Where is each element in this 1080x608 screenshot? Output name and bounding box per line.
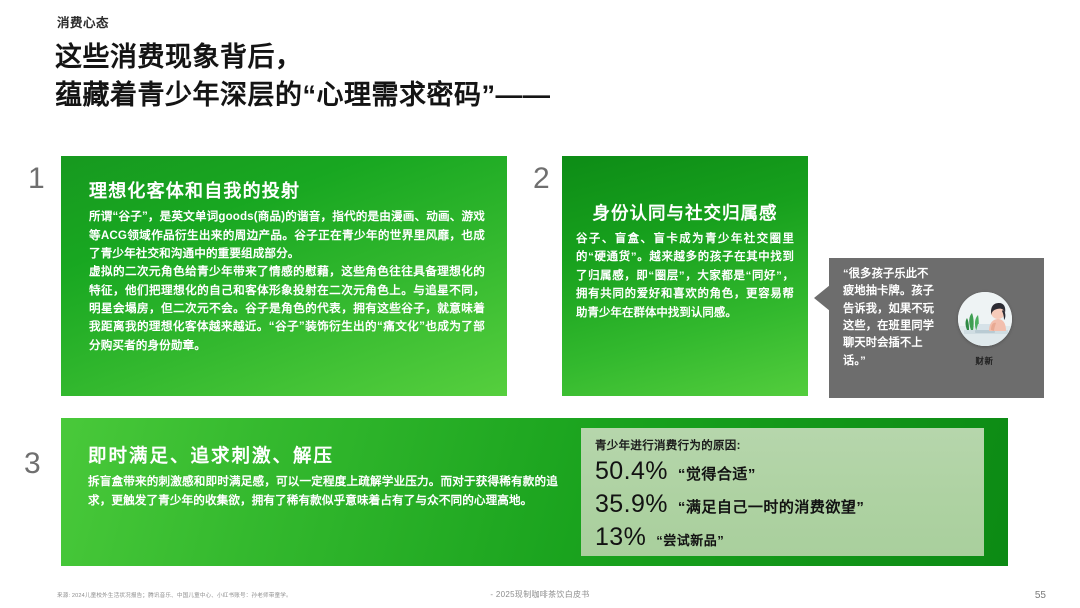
avatar-label: 财新 <box>975 355 993 367</box>
page-title: 这些消费现象背后， 蕴藏着青少年深层的“心理需求密码”—— <box>55 38 551 115</box>
card-2-body: 谷子、盲盒、盲卡成为青少年社交圈里的“硬通货”。越来越多的孩子在其中找到了归属感… <box>576 230 794 322</box>
statistic-value: 13% <box>595 521 646 554</box>
statistics-caption: 青少年进行消费行为的原因: <box>595 437 984 453</box>
card-number-marker-3: 3 <box>24 449 41 479</box>
statistic-value: 35.9% <box>595 488 668 521</box>
statistic-value: 50.4% <box>595 455 668 488</box>
card-number-marker-2: 2 <box>533 164 550 194</box>
statistic-label: “觉得合适” <box>678 465 756 485</box>
card-1-title: 理想化客体和自我的投射 <box>89 180 485 203</box>
card-3-body: 拆盲盒带来的刺激感和即时满足感，可以一定程度上疏解学业压力。而对于获得稀有款的追… <box>88 473 558 510</box>
headline-line-1: 这些消费现象背后， <box>55 42 303 72</box>
statistic-row: 13% “尝试新品” <box>595 521 984 554</box>
card-number-marker-1: 1 <box>28 164 45 194</box>
section-eyebrow: 消费心态 <box>57 12 109 31</box>
content-card-identity-belonging: 身份认同与社交归属感 谷子、盲盒、盲卡成为青少年社交圈里的“硬通货”。越来越多的… <box>562 156 808 396</box>
content-card-instant-gratification: 即时满足、追求刺激、解压 拆盲盒带来的刺激感和即时满足感，可以一定程度上疏解学业… <box>61 418 1008 566</box>
quote-text: “很多孩子乐此不疲地抽卡牌。孩子告诉我，如果不玩这些，在班里同学聊天时会插不上话… <box>843 266 935 398</box>
footer-document-title: - 2025现制咖啡茶饮白皮书 <box>0 589 1080 600</box>
headline-line-2: 蕴藏着青少年深层的“心理需求密码”—— <box>55 80 551 110</box>
card-3-title: 即时满足、追求刺激、解压 <box>88 444 558 468</box>
statistic-row: 50.4% “觉得合适” <box>595 455 984 488</box>
footer-page-number: 55 <box>1035 590 1046 601</box>
content-card-ideal-object: 理想化客体和自我的投射 所谓“谷子”，是英文单词goods(商品)的谐音，指代的… <box>61 156 507 396</box>
statistics-panel: 青少年进行消费行为的原因: 50.4% “觉得合适” 35.9% “满足自己一时… <box>581 428 984 556</box>
card-2-title: 身份认同与社交归属感 <box>576 202 794 225</box>
quote-bubble: “很多孩子乐此不疲地抽卡牌。孩子告诉我，如果不玩这些，在班里同学聊天时会插不上话… <box>829 258 1044 398</box>
quote-attribution: 财新 <box>935 266 1034 398</box>
card-3-text-block: 即时满足、追求刺激、解压 拆盲盒带来的刺激感和即时满足感，可以一定程度上疏解学业… <box>88 444 558 510</box>
statistic-row: 35.9% “满足自己一时的消费欲望” <box>595 488 984 521</box>
avatar <box>958 292 1012 346</box>
quote-bubble-tail <box>814 285 830 311</box>
statistic-label: “满足自己一时的消费欲望” <box>678 498 865 518</box>
card-1-body: 所谓“谷子”，是英文单词goods(商品)的谐音，指代的是由漫画、动画、游戏等A… <box>89 208 485 355</box>
statistic-label: “尝试新品” <box>656 532 724 549</box>
